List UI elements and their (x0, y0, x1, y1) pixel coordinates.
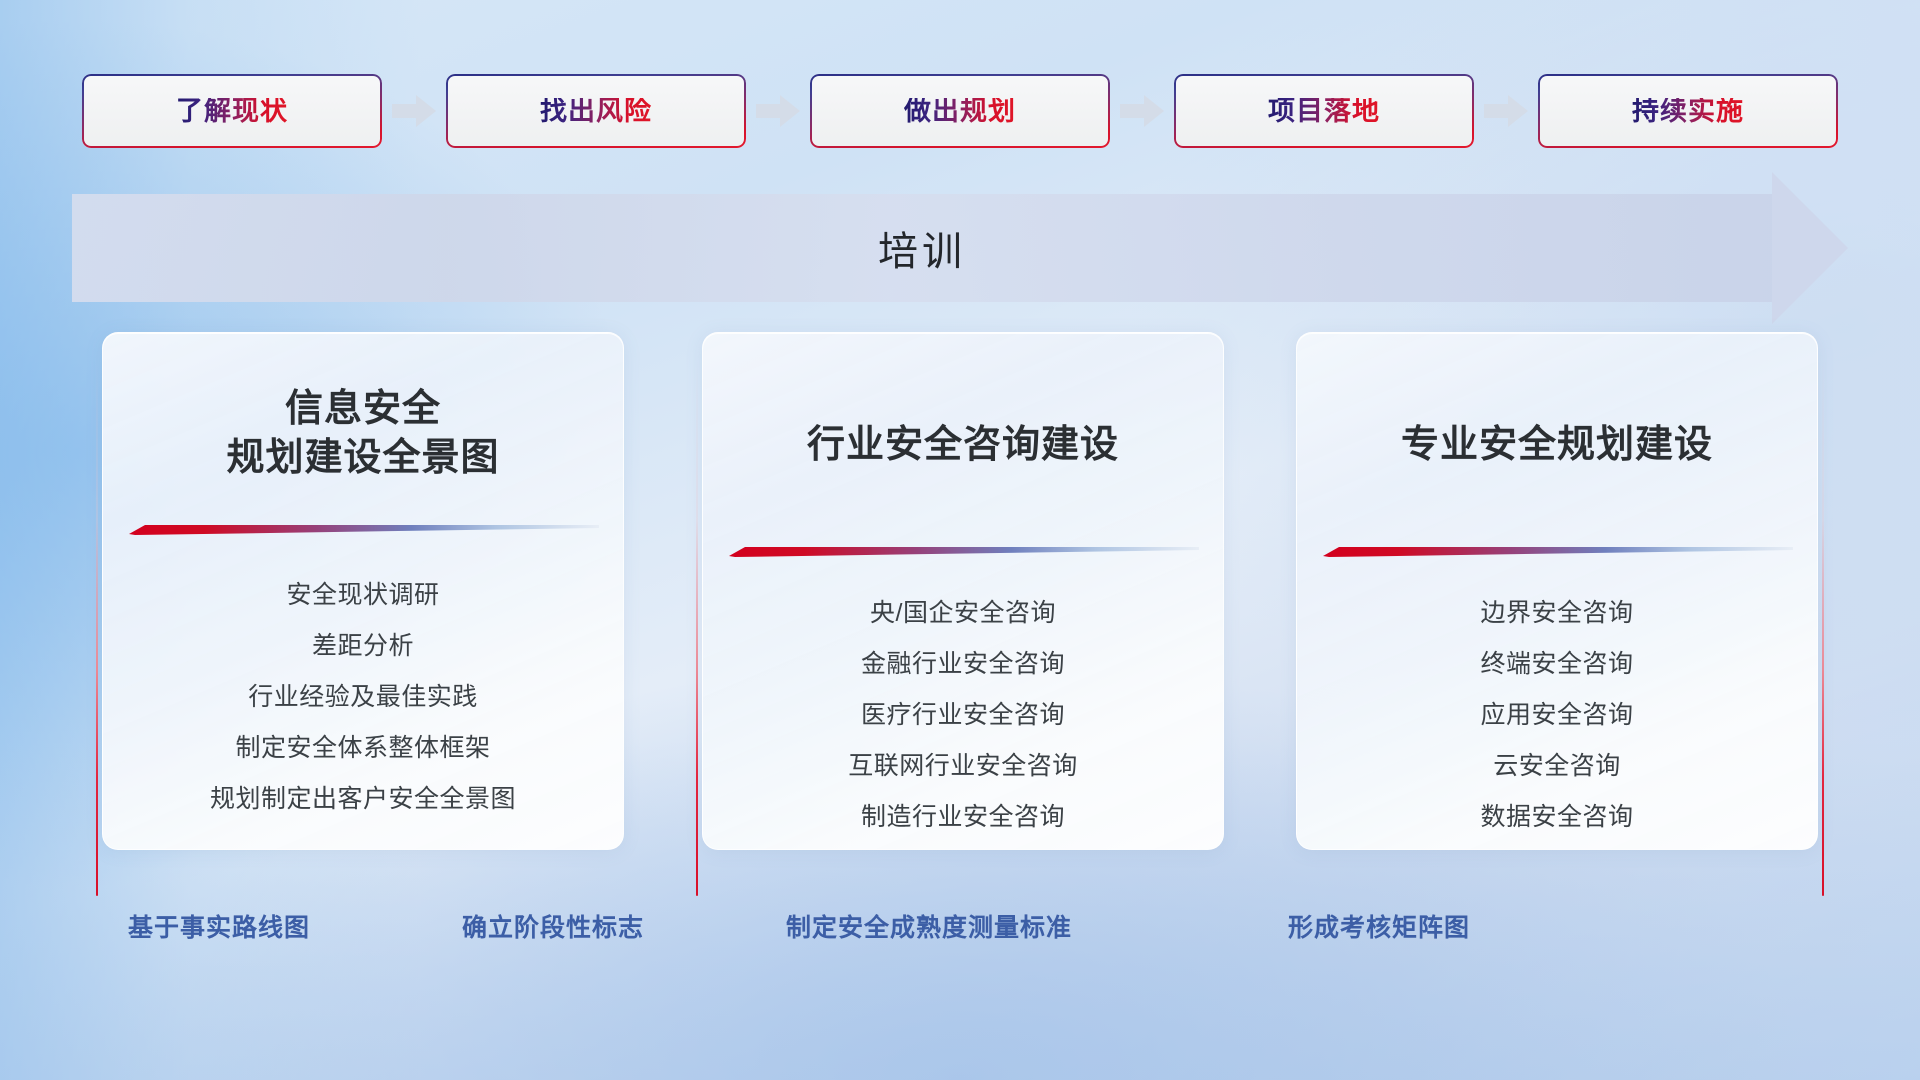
caption-3: 形成考核矩阵图 (1288, 908, 1470, 944)
card-item-list: 边界安全咨询终端安全咨询应用安全咨询云安全咨询数据安全咨询 (1323, 588, 1791, 843)
arrow-right-icon (1484, 95, 1528, 127)
step-label: 项目落地 (1268, 98, 1380, 125)
card-content: 行业安全咨询建设央/国企安全咨询金融行业安全咨询医疗行业安全咨询互联网行业安全咨… (703, 333, 1223, 849)
card-divider-wrap (729, 546, 1197, 562)
training-banner-arrowhead (1772, 172, 1848, 324)
step-label: 找出风险 (540, 98, 652, 125)
list-item[interactable]: 终端安全咨询 (1323, 639, 1791, 690)
arrow-right-icon (756, 95, 800, 127)
caption-1: 确立阶段性标志 (462, 908, 644, 944)
card-content: 专业安全规划建设边界安全咨询终端安全咨询应用安全咨询云安全咨询数据安全咨询 (1297, 333, 1817, 849)
card-accent-line (96, 360, 98, 896)
caption-0: 基于事实路线图 (128, 908, 310, 944)
step-label: 了解现状 (176, 98, 288, 125)
card-content: 信息安全 规划建设全景图安全现状调研差距分析行业经验及最佳实践制定安全体系整体框… (103, 333, 623, 849)
list-item[interactable]: 行业经验及最佳实践 (129, 672, 597, 723)
card-item-list: 央/国企安全咨询金融行业安全咨询医疗行业安全咨询互联网行业安全咨询制造行业安全咨… (729, 588, 1197, 843)
card-divider-icon (1323, 546, 1793, 558)
caption-2: 制定安全成熟度测量标准 (786, 908, 1072, 944)
card-panel[interactable]: 行业安全咨询建设央/国企安全咨询金融行业安全咨询医疗行业安全咨询互联网行业安全咨… (702, 332, 1224, 850)
step-box-4[interactable]: 持续实施 (1538, 74, 1838, 148)
list-item[interactable]: 云安全咨询 (1323, 741, 1791, 792)
card-title: 专业安全规划建设 (1323, 421, 1791, 470)
arrow-right-icon (1120, 95, 1164, 127)
step-label: 持续实施 (1632, 98, 1744, 125)
training-banner-label: 培训 (72, 194, 1772, 302)
step-arrow-4 (1478, 74, 1534, 148)
list-item[interactable]: 制定安全体系整体框架 (129, 723, 597, 774)
capability-cards: 信息安全 规划建设全景图安全现状调研差距分析行业经验及最佳实践制定安全体系整体框… (0, 332, 1920, 872)
card-title: 行业安全咨询建设 (729, 421, 1197, 470)
list-item[interactable]: 差距分析 (129, 621, 597, 672)
list-item[interactable]: 规划制定出客户安全全景图 (129, 774, 597, 825)
list-item[interactable]: 应用安全咨询 (1323, 690, 1791, 741)
list-item[interactable]: 制造行业安全咨询 (729, 792, 1197, 843)
card-title: 信息安全 规划建设全景图 (129, 385, 597, 482)
step-box-3[interactable]: 项目落地 (1174, 74, 1474, 148)
card-0: 信息安全 规划建设全景图安全现状调研差距分析行业经验及最佳实践制定安全体系整体框… (94, 332, 626, 872)
card-1: 行业安全咨询建设央/国企安全咨询金融行业安全咨询医疗行业安全咨询互联网行业安全咨… (694, 332, 1226, 872)
card-divider-icon (129, 524, 599, 536)
step-box-2[interactable]: 做出规划 (810, 74, 1110, 148)
list-item[interactable]: 互联网行业安全咨询 (729, 741, 1197, 792)
card-accent-line (1822, 360, 1824, 896)
card-2: 专业安全规划建设边界安全咨询终端安全咨询应用安全咨询云安全咨询数据安全咨询 (1294, 332, 1826, 872)
card-divider-icon (729, 546, 1199, 558)
card-panel[interactable]: 专业安全规划建设边界安全咨询终端安全咨询应用安全咨询云安全咨询数据安全咨询 (1296, 332, 1818, 850)
list-item[interactable]: 央/国企安全咨询 (729, 588, 1197, 639)
list-item[interactable]: 医疗行业安全咨询 (729, 690, 1197, 741)
step-arrow-1 (386, 74, 442, 148)
card-divider-wrap (1323, 546, 1791, 562)
list-item[interactable]: 数据安全咨询 (1323, 792, 1791, 843)
list-item[interactable]: 金融行业安全咨询 (729, 639, 1197, 690)
card-item-list: 安全现状调研差距分析行业经验及最佳实践制定安全体系整体框架规划制定出客户安全全景… (129, 570, 597, 825)
step-box-1[interactable]: 找出风险 (446, 74, 746, 148)
card-divider-wrap (129, 524, 597, 540)
arrow-right-icon (392, 95, 436, 127)
list-item[interactable]: 安全现状调研 (129, 570, 597, 621)
card-panel[interactable]: 信息安全 规划建设全景图安全现状调研差距分析行业经验及最佳实践制定安全体系整体框… (102, 332, 624, 850)
step-arrow-2 (750, 74, 806, 148)
process-step-flow: 了解现状 找出风险 做出规划 项目落地 持续实施 (0, 72, 1920, 150)
outcome-captions: 基于事实路线图确立阶段性标志制定安全成熟度测量标准形成考核矩阵图 (0, 908, 1920, 960)
step-label: 做出规划 (904, 98, 1016, 125)
training-banner: 培训 (72, 194, 1848, 302)
list-item[interactable]: 边界安全咨询 (1323, 588, 1791, 639)
card-accent-line (696, 360, 698, 896)
step-box-0[interactable]: 了解现状 (82, 74, 382, 148)
step-arrow-3 (1114, 74, 1170, 148)
